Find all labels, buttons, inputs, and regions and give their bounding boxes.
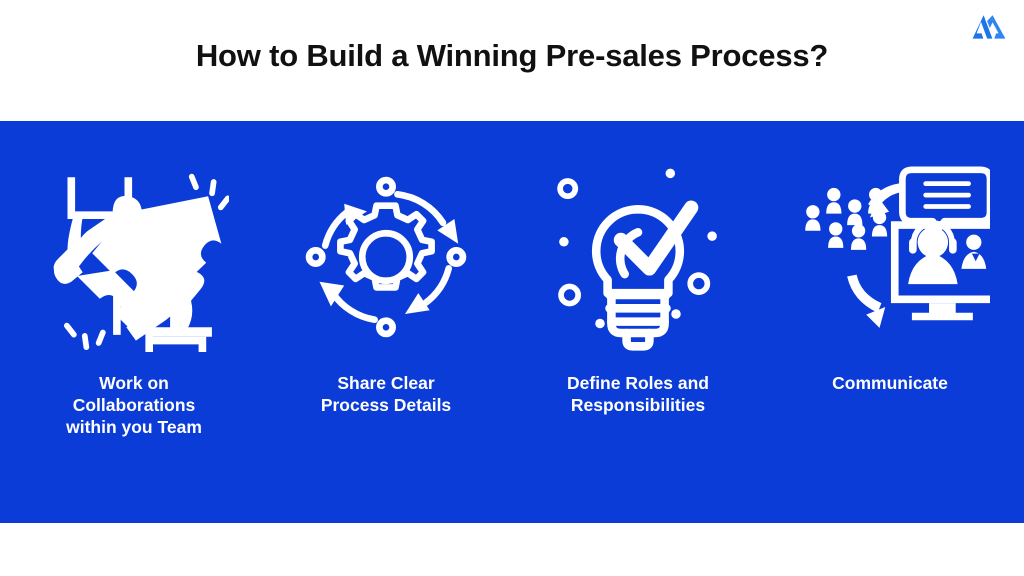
feature-card-label: Work on Collaborations within you Team	[14, 372, 254, 438]
label-line-1: Work on	[14, 372, 254, 394]
feature-card-label: Communicate	[770, 372, 1010, 394]
label-line-2: Process Details	[266, 394, 506, 416]
feature-card-collaboration[interactable]: Work on Collaborations within you Team	[8, 121, 260, 523]
label-line-2: Collaborations	[14, 394, 254, 416]
slide-root: How to Build a Winning Pre-sales Process…	[0, 0, 1024, 576]
video-call-team-icon	[790, 159, 990, 354]
slide-header: How to Build a Winning Pre-sales Process…	[0, 0, 1024, 121]
gear-cycle-arrows-icon	[286, 159, 486, 354]
mountain-a-logo-icon	[972, 12, 1006, 42]
feature-card-process[interactable]: Share Clear Process Details	[260, 121, 512, 523]
label-line-2: Responsibilities	[518, 394, 758, 416]
lightbulb-check-icon	[538, 159, 738, 354]
feature-card-row: Work on Collaborations within you Team	[0, 121, 1024, 523]
feature-card-communicate[interactable]: Communicate	[764, 121, 1016, 523]
blue-content-band: Work on Collaborations within you Team	[0, 121, 1024, 523]
label-line-3: within you Team	[14, 416, 254, 438]
label-line-1: Define Roles and	[518, 372, 758, 394]
feature-card-roles[interactable]: Define Roles and Responsibilities	[512, 121, 764, 523]
page-title: How to Build a Winning Pre-sales Process…	[0, 38, 1024, 74]
feature-card-label: Define Roles and Responsibilities	[518, 372, 758, 416]
label-line-1: Share Clear	[266, 372, 506, 394]
label-line-1: Communicate	[770, 372, 1010, 394]
footer-strip	[0, 523, 1024, 576]
feature-card-label: Share Clear Process Details	[266, 372, 506, 416]
puzzle-handshake-icon	[34, 159, 234, 354]
